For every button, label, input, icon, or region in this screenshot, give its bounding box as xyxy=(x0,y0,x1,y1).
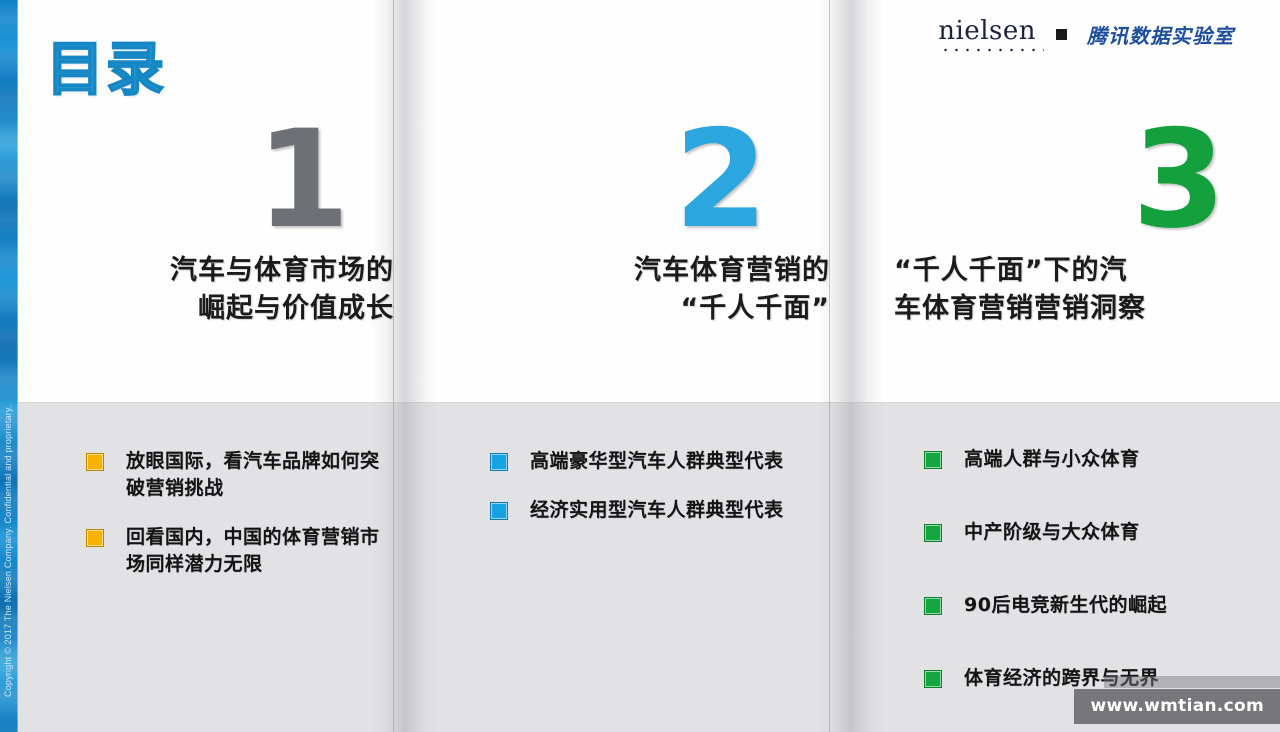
section-number-3: 3 xyxy=(1132,112,1226,247)
section-title-1-line2: 崛起与价值成长 xyxy=(34,290,394,328)
section-number-2: 2 xyxy=(674,112,768,247)
bullet-list-1: 放眼国际，看汽车品牌如何突破营销挑战 回看国内，中国的体育营销市场同样潜力无限 xyxy=(86,448,386,600)
watermark-glow xyxy=(1104,676,1280,688)
agenda-column-3: 3 “千人千面”下的汽 车体育营销营销洞察 高端人群与小众体育 中产阶级与大众体… xyxy=(880,0,1250,732)
list-item-label: 高端豪华型汽车人群典型代表 xyxy=(530,448,784,475)
agenda-column-1: 1 汽车与体育市场的 崛起与价值成长 放眼国际，看汽车品牌如何突破营销挑战 回看… xyxy=(34,0,394,732)
bullet-square-icon xyxy=(924,524,942,542)
section-number-1: 1 xyxy=(256,112,350,247)
slide-root: Copyright © 2017 The Nielsen Company. Co… xyxy=(0,0,1280,732)
section-title-3: “千人千面”下的汽 车体育营销营销洞察 xyxy=(880,252,1242,329)
copyright-clip: Copyright © 2017 The Nielsen Company. Co… xyxy=(0,0,18,732)
bullet-square-icon xyxy=(490,502,508,520)
bullet-square-icon xyxy=(924,670,942,688)
list-item-label: 高端人群与小众体育 xyxy=(964,446,1140,473)
bullet-square-icon xyxy=(924,597,942,615)
left-blue-bar: Copyright © 2017 The Nielsen Company. Co… xyxy=(0,0,18,732)
bullet-square-icon xyxy=(86,529,104,547)
bullet-list-2: 高端豪华型汽车人群典型代表 经济实用型汽车人群典型代表 xyxy=(490,448,790,546)
list-item[interactable]: 高端人群与小众体育 xyxy=(924,446,1234,473)
section-title-3-line2: 车体育营销营销洞察 xyxy=(894,290,1242,328)
watermark: www.wmtian.com xyxy=(1074,689,1280,724)
list-item-label: 中产阶级与大众体育 xyxy=(964,519,1140,546)
copyright-notice: Copyright © 2017 The Nielsen Company. Co… xyxy=(3,217,13,697)
agenda-column-2: 2 汽车体育营销的 “千人千面” 高端豪华型汽车人群典型代表 经济实用型汽车人群… xyxy=(470,0,830,732)
list-item[interactable]: 高端豪华型汽车人群典型代表 xyxy=(490,448,790,475)
section-title-2-line1: 汽车体育营销的 xyxy=(470,252,830,290)
bullet-square-icon xyxy=(86,453,104,471)
list-item-label: 90后电竞新生代的崛起 xyxy=(964,592,1167,619)
section-title-3-line1: “千人千面”下的汽 xyxy=(894,252,1242,290)
list-item[interactable]: 经济实用型汽车人群典型代表 xyxy=(490,497,790,524)
list-item[interactable]: 放眼国际，看汽车品牌如何突破营销挑战 xyxy=(86,448,386,502)
section-title-1: 汽车与体育市场的 崛起与价值成长 xyxy=(34,252,394,329)
section-title-2-line2: “千人千面” xyxy=(470,290,830,328)
bullet-square-icon xyxy=(490,453,508,471)
list-item[interactable]: 中产阶级与大众体育 xyxy=(924,519,1234,546)
section-title-1-line1: 汽车与体育市场的 xyxy=(34,252,394,290)
section-title-2: 汽车体育营销的 “千人千面” xyxy=(470,252,830,329)
bullet-square-icon xyxy=(924,451,942,469)
list-item-label: 放眼国际，看汽车品牌如何突破营销挑战 xyxy=(126,448,386,502)
list-item[interactable]: 90后电竞新生代的崛起 xyxy=(924,592,1234,619)
list-item-label: 回看国内，中国的体育营销市场同样潜力无限 xyxy=(126,524,386,578)
list-item[interactable]: 回看国内，中国的体育营销市场同样潜力无限 xyxy=(86,524,386,578)
list-item-label: 经济实用型汽车人群典型代表 xyxy=(530,497,784,524)
